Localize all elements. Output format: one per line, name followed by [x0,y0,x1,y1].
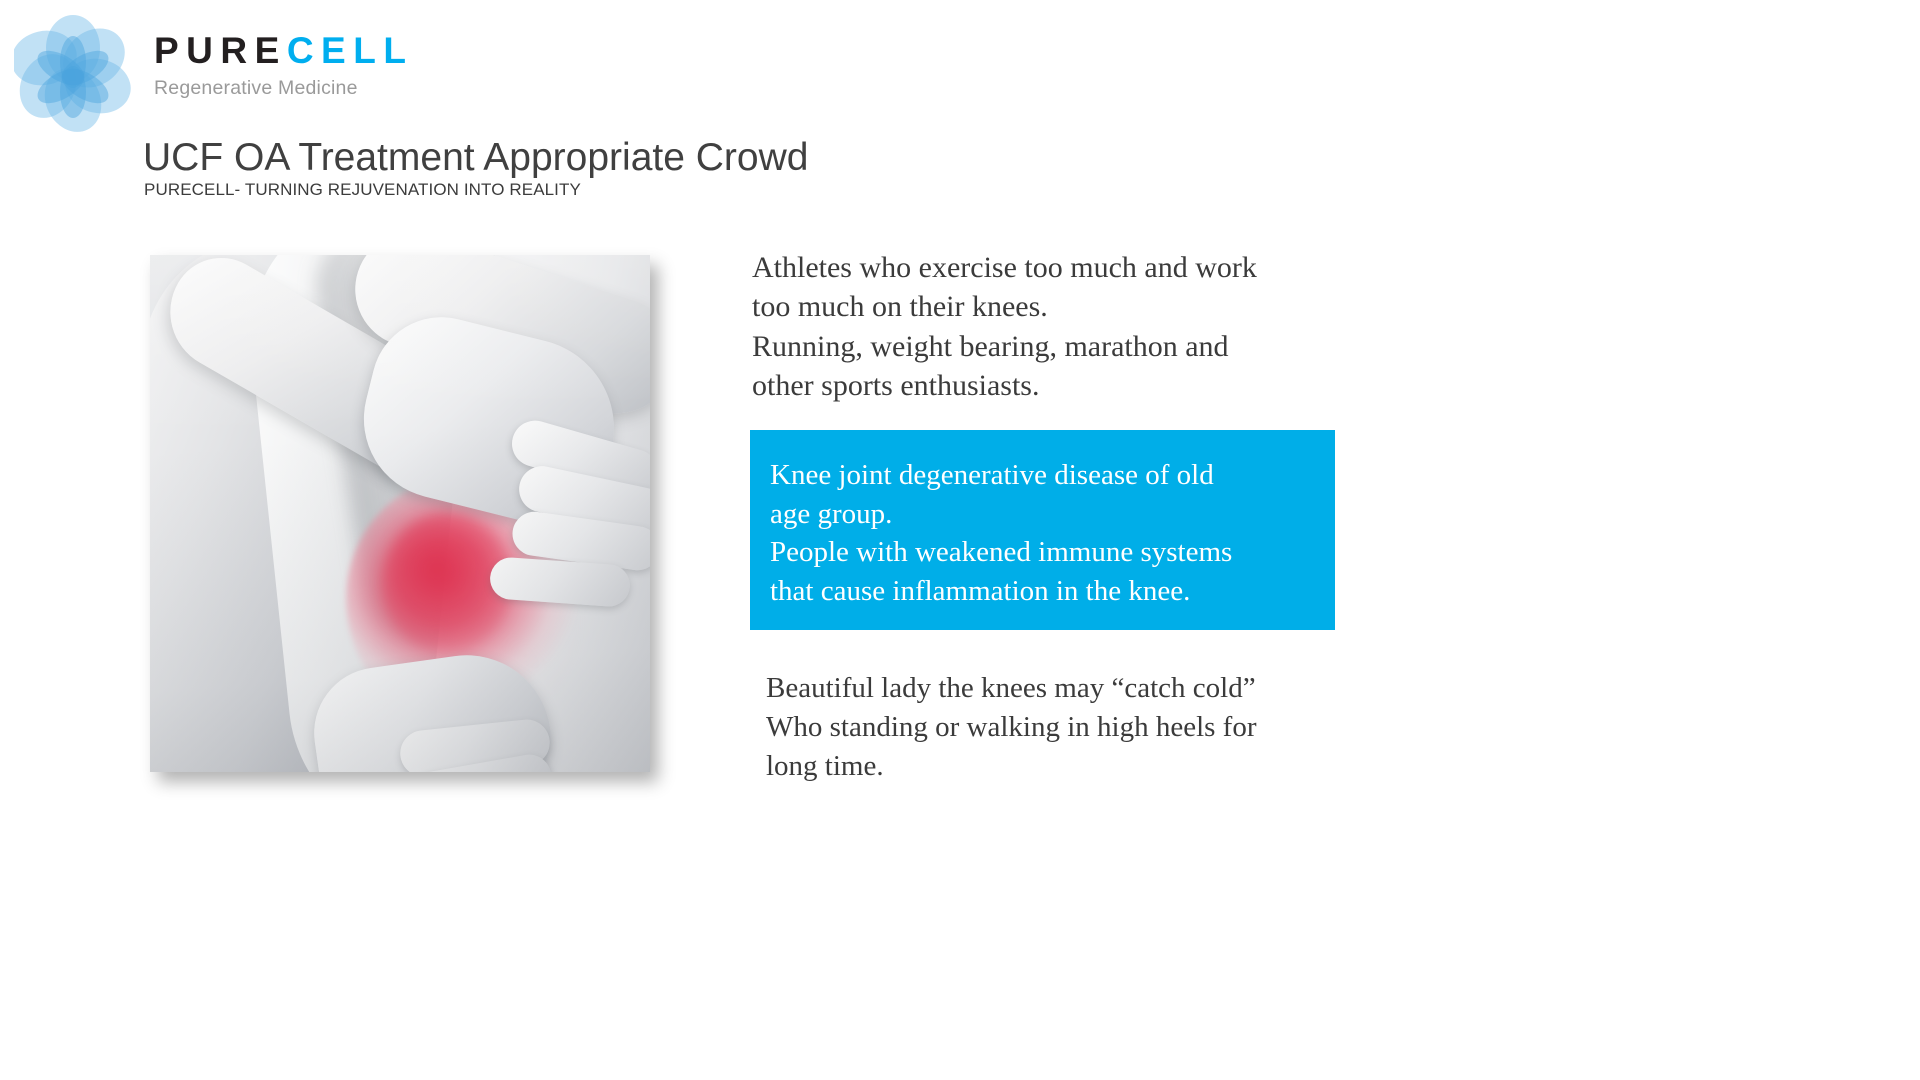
knee-pain-photo-canvas [150,255,650,772]
brand-tagline: Regenerative Medicine [154,79,413,99]
callout-line: age group. [770,495,1335,534]
brand-wordmark: PURECELL Regenerative Medicine [154,32,413,99]
knee-pain-photo [150,255,650,772]
wordmark-text: PURECELL [154,32,413,69]
paragraph-line: Beautiful lady the knees may “catch cold… [766,669,1366,708]
wordmark-pure: PURE [154,30,287,71]
slide-canvas: PURECELL Regenerative Medicine UCF OA Tr… [0,0,1920,1080]
callout-line: Knee joint degenerative disease of old [770,456,1335,495]
paragraph-line: long time. [766,747,1366,786]
paragraph-line: other sports enthusiasts. [752,366,1362,405]
paragraph-line: Running, weight bearing, marathon and [752,327,1362,366]
page-subtitle: PURECELL- TURNING REJUVENATION INTO REAL… [144,180,581,200]
callout-line: People with weakened immune systems [770,533,1335,572]
paragraph-athletes: Athletes who exercise too much and work … [752,248,1362,405]
flower-rosette-icon [14,14,132,132]
paragraph-line: too much on their knees. [752,287,1362,326]
paragraph-line: Who standing or walking in high heels fo… [766,708,1366,747]
paragraph-high-heels: Beautiful lady the knees may “catch cold… [766,669,1366,786]
wordmark-cell: CELL [287,30,414,71]
page-title: UCF OA Treatment Appropriate Crowd [143,136,808,180]
callout-line: that cause inflammation in the knee. [770,572,1335,611]
callout-text: Knee joint degenerative disease of old a… [770,456,1335,610]
brand-logo: PURECELL Regenerative Medicine [14,8,554,133]
paragraph-line: Athletes who exercise too much and work [752,248,1362,287]
callout-box: Knee joint degenerative disease of old a… [750,430,1335,630]
